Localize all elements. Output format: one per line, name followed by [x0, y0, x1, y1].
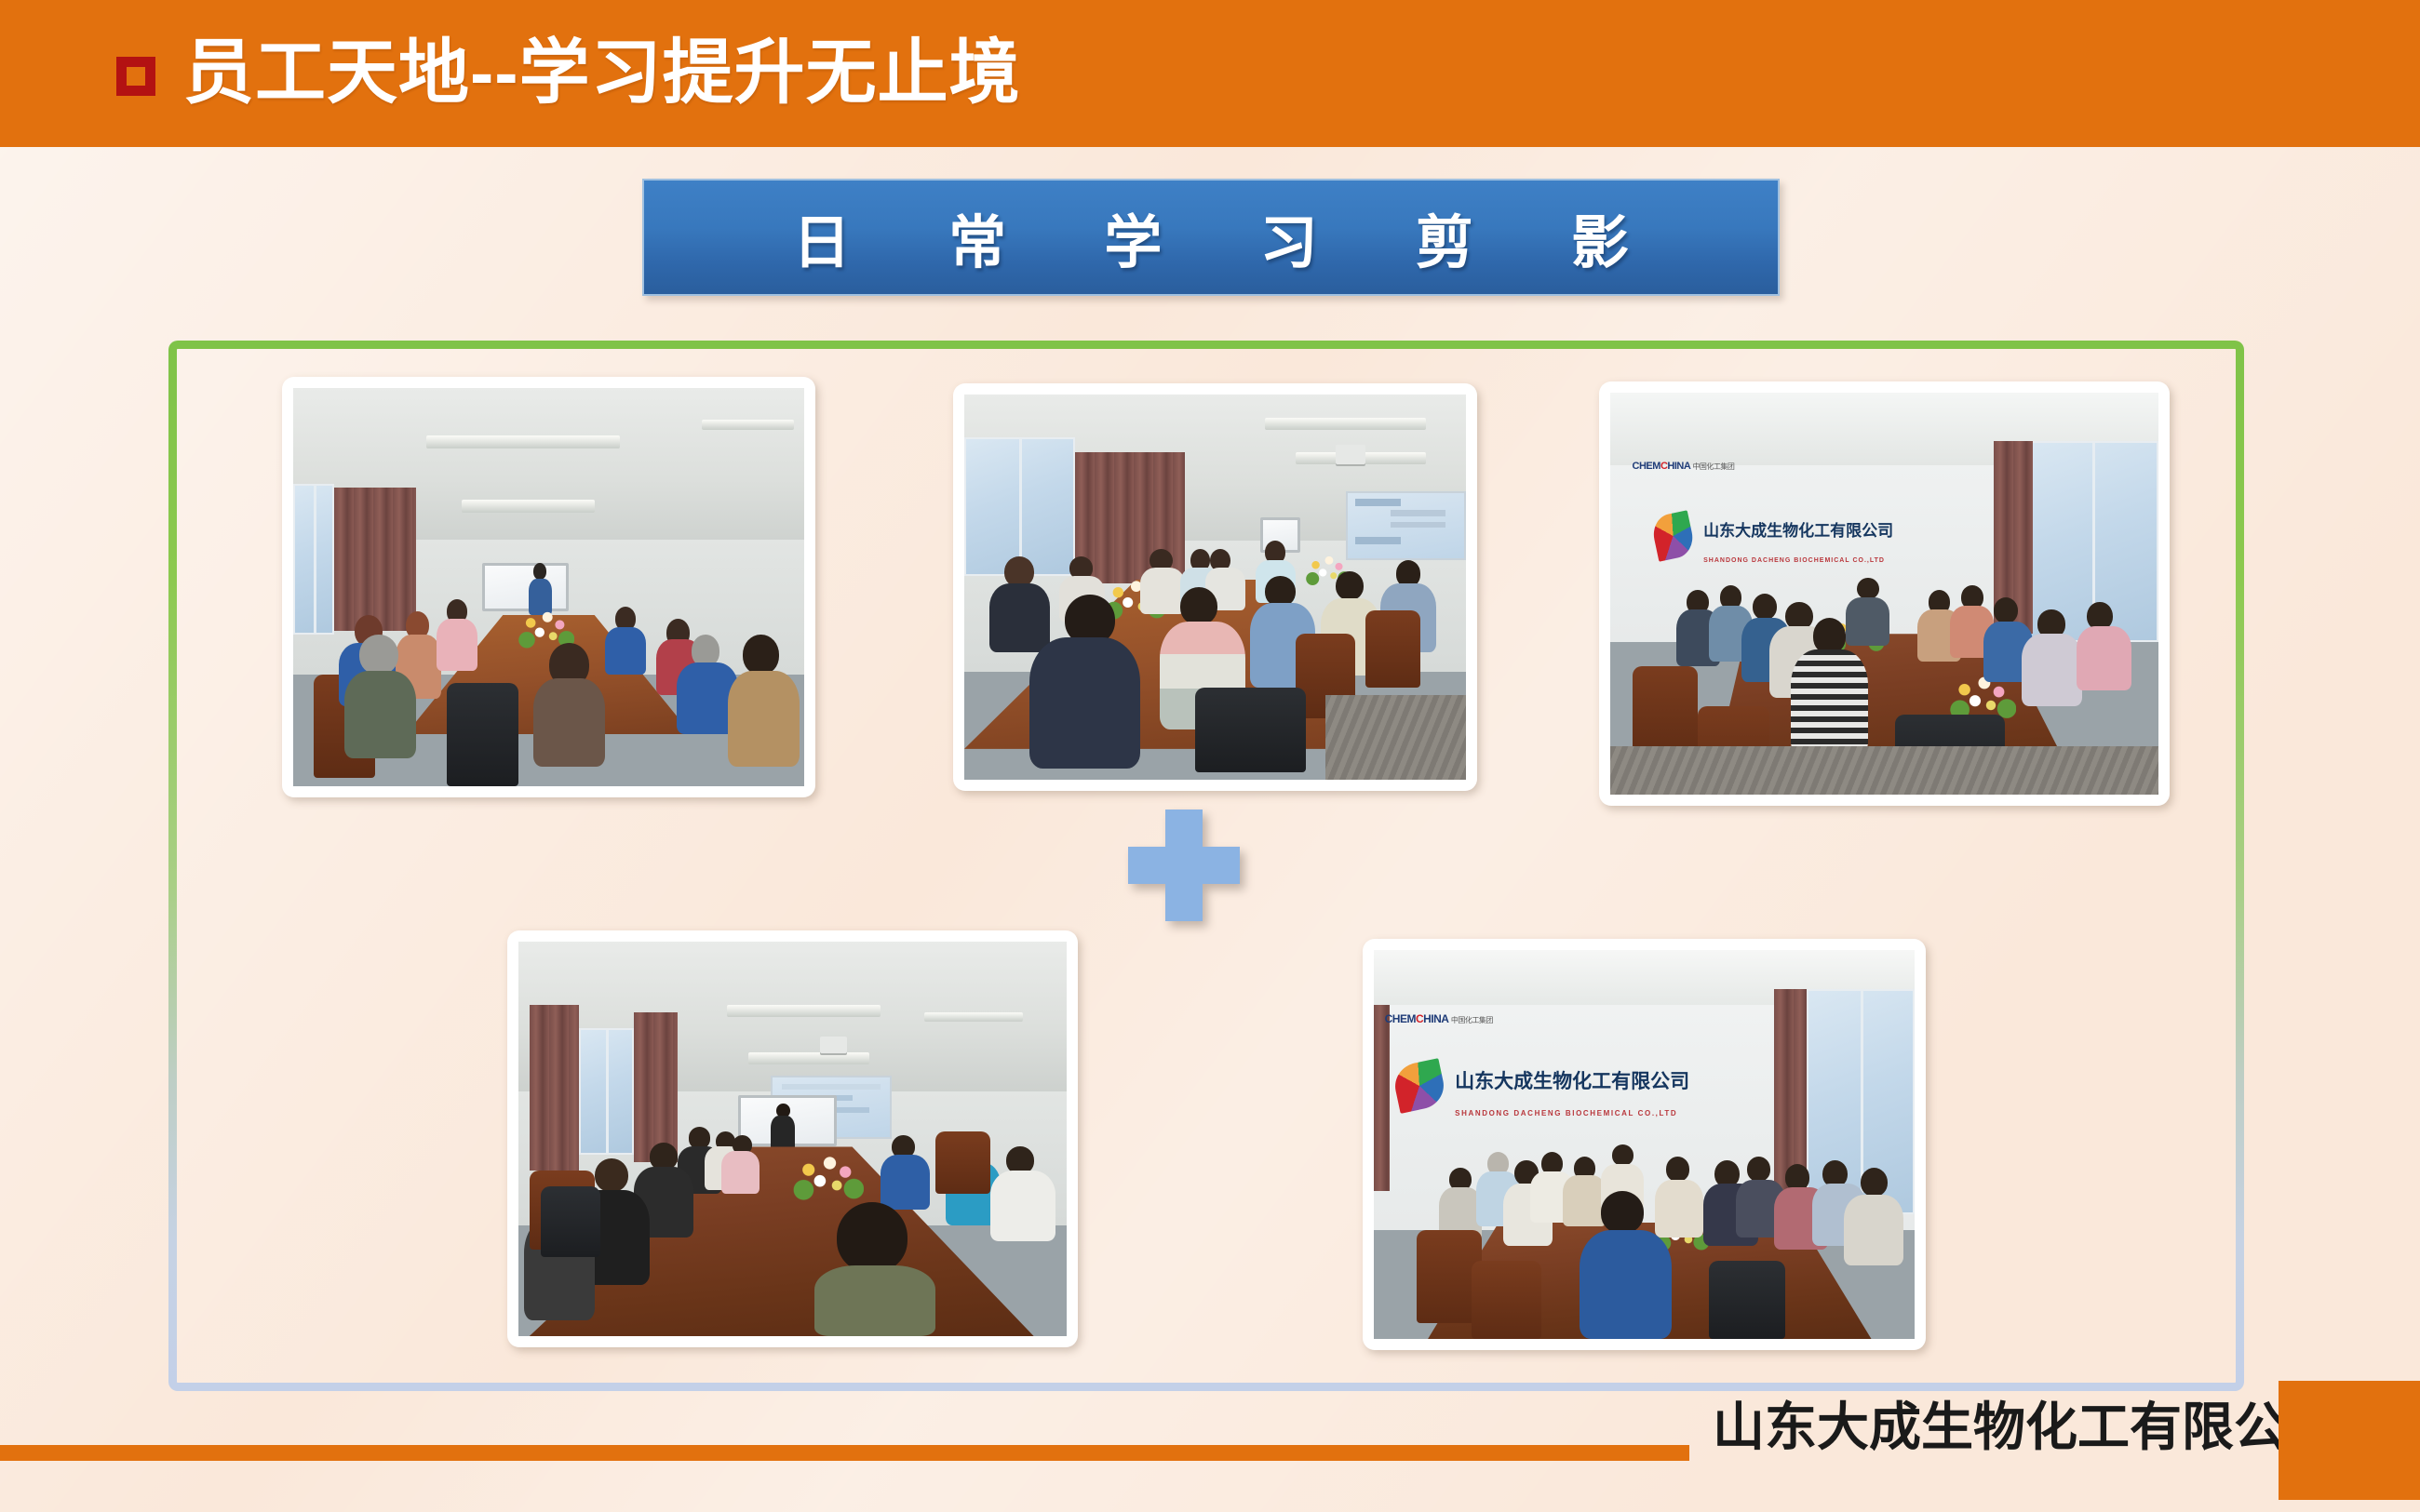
photo-image-5: CHEMCHINA 中国化工集团 山东大成生物化工有限公司 SHANDONG D…: [1374, 950, 1915, 1339]
photo-card-3[interactable]: CHEMCHINA 中国化工集团 山东大成生物化工有限公司 SHANDONG D…: [1599, 381, 2170, 806]
page-title: 员工天地--学习提升无止境: [183, 38, 1021, 109]
photo-image-3: CHEMCHINA 中国化工集团 山东大成生物化工有限公司 SHANDONG D…: [1610, 393, 2158, 795]
scene-branded-meeting-room-2: CHEMCHINA 中国化工集团 山东大成生物化工有限公司 SHANDONG D…: [1374, 950, 1915, 1339]
footer-company-name: 山东大成生物化工有限公司: [1713, 1401, 2338, 1453]
section-banner-title: 日 常 学 习 剪 影: [752, 195, 1670, 279]
photo-card-1[interactable]: [282, 377, 815, 797]
blue-cross-ornament-icon: [1128, 810, 1240, 921]
photo-image-4: [518, 942, 1067, 1336]
footer-accent-block: [2279, 1381, 2420, 1500]
photo-image-1: [293, 388, 804, 786]
footer-accent-line: [0, 1445, 1689, 1461]
header-content: 员工天地--学习提升无止境: [116, 0, 1021, 147]
company-sign-name-cn-2: 山东大成生物化工有限公司: [1455, 1066, 1689, 1094]
photo-card-5[interactable]: CHEMCHINA 中国化工集团 山东大成生物化工有限公司 SHANDONG D…: [1363, 939, 1926, 1350]
company-sign-name-cn: 山东大成生物化工有限公司: [1703, 517, 1893, 541]
scene-meeting-room-projector: [964, 395, 1466, 780]
chemchina-logo-text-2: CHEMCHINA 中国化工集团: [1385, 1012, 1493, 1025]
photo-card-2[interactable]: [953, 383, 1477, 791]
red-square-bullet-icon: [116, 57, 155, 96]
photo-card-4[interactable]: [507, 930, 1078, 1347]
company-sign-name-en-2: SHANDONG DACHENG BIOCHEMICAL CO.,LTD: [1455, 1109, 1677, 1117]
header-bar: 员工天地--学习提升无止境: [0, 0, 2420, 147]
scene-conference-room-training: [293, 388, 804, 786]
scene-whiteboard-lecture: [518, 942, 1067, 1336]
scene-branded-meeting-room: CHEMCHINA 中国化工集团 山东大成生物化工有限公司 SHANDONG D…: [1610, 393, 2158, 795]
section-banner: 日 常 学 习 剪 影: [642, 179, 1780, 296]
photo-image-2: [964, 395, 1466, 780]
chemchina-logo-text: CHEMCHINA 中国化工集团: [1633, 461, 1735, 472]
company-sign-name-en: SHANDONG DACHENG BIOCHEMICAL CO.,LTD: [1703, 557, 1885, 564]
